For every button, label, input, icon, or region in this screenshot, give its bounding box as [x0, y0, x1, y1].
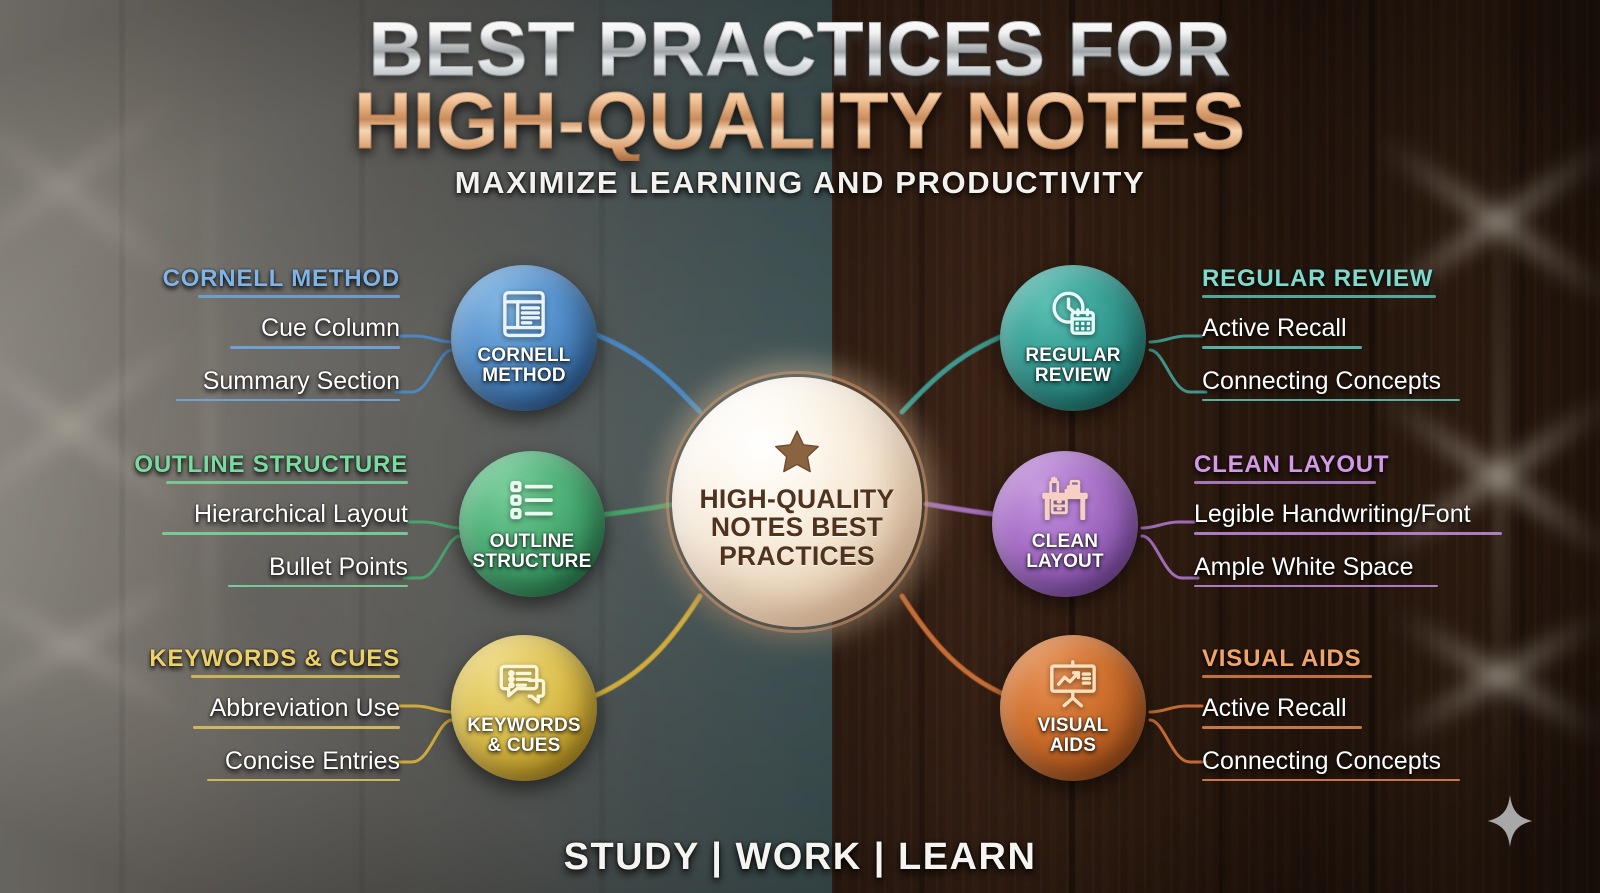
branch-cornell-title-rule: [198, 295, 400, 298]
node-regular-review-label: REGULAR REVIEW: [1025, 346, 1120, 385]
branch-visual-rule-1: [1202, 779, 1460, 782]
node-visual-aids[interactable]: VISUAL AIDS: [1000, 635, 1146, 781]
center-hub-line3: PRACTICES: [700, 542, 895, 570]
node-visual-line2: AIDS: [1038, 736, 1109, 756]
branch-visual-title-rule: [1202, 675, 1372, 678]
center-hub-label: HIGH-QUALITY NOTES BEST PRACTICES: [700, 485, 895, 570]
branch-cornell-item-0: Cue Column: [90, 314, 400, 343]
branch-visual-item-1: Connecting Concepts: [1202, 747, 1532, 776]
node-keywords-line1: KEYWORDS: [467, 716, 581, 736]
node-visual-aids-label: VISUAL AIDS: [1038, 716, 1109, 755]
branch-cornell-rule-0: [230, 346, 400, 349]
branch-visual-title: VISUAL AIDS: [1202, 645, 1532, 673]
branch-keywords-rule-1: [207, 779, 400, 782]
node-review-line2: REVIEW: [1025, 366, 1120, 386]
branch-outline-structure: OUTLINE STRUCTURE Hierarchical Layout Bu…: [80, 451, 408, 587]
branch-layout-item-0: Legible Handwriting/Font: [1194, 500, 1524, 529]
node-cornell-line1: CORNELL: [477, 346, 570, 366]
branch-outline-rule-0: [162, 532, 408, 535]
branch-layout-title: CLEAN LAYOUT: [1194, 451, 1524, 479]
document-notes-icon: [497, 287, 551, 341]
center-hub-line1: HIGH-QUALITY: [700, 485, 895, 513]
branch-layout-rule-1: [1194, 585, 1438, 588]
node-cornell-method-label: CORNELL METHOD: [477, 346, 570, 385]
node-regular-review[interactable]: REGULAR REVIEW: [1000, 265, 1146, 411]
branch-visual-aids: VISUAL AIDS Active Recall Connecting Con…: [1202, 645, 1532, 781]
node-layout-line1: CLEAN: [1026, 532, 1104, 552]
bullet-list-icon: [505, 473, 559, 527]
header: BEST PRACTICES FOR HIGH-QUALITY NOTES MA…: [0, 14, 1600, 201]
node-cornell-method[interactable]: CORNELL METHOD: [451, 265, 597, 411]
branch-keywords-title-rule: [191, 675, 400, 678]
branch-regular-review: REGULAR REVIEW Active Recall Connecting …: [1202, 265, 1532, 401]
branch-review-title-rule: [1202, 295, 1436, 298]
node-outline-structure-label: OUTLINE STRUCTURE: [473, 532, 592, 571]
branch-layout-title-rule: [1194, 481, 1376, 484]
presentation-chart-icon: [1046, 657, 1100, 711]
node-clean-layout-label: CLEAN LAYOUT: [1026, 532, 1104, 571]
branch-visual-rule-0: [1202, 726, 1362, 729]
sparkle-icon: [1487, 795, 1533, 847]
clock-calendar-icon: [1046, 287, 1100, 341]
branch-cornell-item-1: Summary Section: [90, 367, 400, 396]
branch-keywords-title: KEYWORDS & CUES: [95, 645, 400, 673]
infographic-canvas: BEST PRACTICES FOR HIGH-QUALITY NOTES MA…: [0, 0, 1600, 893]
node-cornell-line2: METHOD: [477, 366, 570, 386]
branch-outline-rule-1: [228, 585, 408, 588]
chat-bubbles-icon: [497, 657, 551, 711]
branch-layout-rule-0: [1194, 532, 1502, 535]
node-outline-line1: OUTLINE: [473, 532, 592, 552]
branch-keywords-item-0: Abbreviation Use: [95, 694, 400, 723]
center-hub[interactable]: HIGH-QUALITY NOTES BEST PRACTICES: [672, 377, 922, 627]
branch-review-rule-0: [1202, 346, 1362, 349]
footer-tagline: STUDY | WORK | LEARN: [0, 836, 1600, 879]
branch-cornell-method: CORNELL METHOD Cue Column Summary Sectio…: [90, 265, 400, 401]
branch-cornell-title: CORNELL METHOD: [90, 265, 400, 293]
branch-review-title: REGULAR REVIEW: [1202, 265, 1532, 293]
node-layout-line2: LAYOUT: [1026, 552, 1104, 572]
center-hub-line2: NOTES BEST: [700, 513, 895, 541]
branch-clean-layout: CLEAN LAYOUT Legible Handwriting/Font Am…: [1194, 451, 1524, 587]
branch-keywords-item-1: Concise Entries: [95, 747, 400, 776]
desk-icon: [1038, 473, 1092, 527]
branch-layout-item-1: Ample White Space: [1194, 553, 1524, 582]
branch-keywords-rule-0: [193, 726, 400, 729]
branch-outline-title: OUTLINE STRUCTURE: [80, 451, 408, 479]
node-visual-line1: VISUAL: [1038, 716, 1109, 736]
branch-cornell-rule-1: [176, 399, 400, 402]
node-keywords-cues[interactable]: KEYWORDS & CUES: [451, 635, 597, 781]
node-clean-layout[interactable]: CLEAN LAYOUT: [992, 451, 1138, 597]
branch-keywords-cues: KEYWORDS & CUES Abbreviation Use Concise…: [95, 645, 400, 781]
node-review-line1: REGULAR: [1025, 346, 1120, 366]
node-outline-structure[interactable]: OUTLINE STRUCTURE: [459, 451, 605, 597]
branch-review-rule-1: [1202, 399, 1460, 402]
branch-outline-title-rule: [166, 481, 408, 484]
branch-review-item-0: Active Recall: [1202, 314, 1532, 343]
branch-review-item-1: Connecting Concepts: [1202, 367, 1532, 396]
node-keywords-line2: & CUES: [467, 736, 581, 756]
node-keywords-cues-label: KEYWORDS & CUES: [467, 716, 581, 755]
page-subtitle: MAXIMIZE LEARNING AND PRODUCTIVITY: [0, 165, 1600, 201]
branch-visual-item-0: Active Recall: [1202, 694, 1532, 723]
star-icon: [772, 428, 822, 476]
branch-outline-item-0: Hierarchical Layout: [80, 500, 408, 529]
page-title-line2: HIGH-QUALITY NOTES: [0, 81, 1600, 161]
branch-outline-item-1: Bullet Points: [80, 553, 408, 582]
node-outline-line2: STRUCTURE: [473, 552, 592, 572]
